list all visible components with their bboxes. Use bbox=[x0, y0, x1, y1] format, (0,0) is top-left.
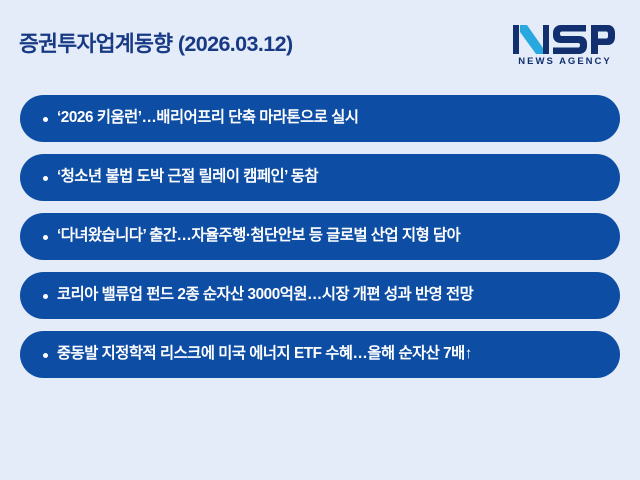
bullet-icon bbox=[43, 176, 48, 181]
headline-text: 코리아 밸류업 펀드 2종 순자산 3000억원…시장 개편 성과 반영 전망 bbox=[57, 286, 473, 305]
headline-list: ‘2026 키움런’…배리어프리 단축 마라톤으로 실시 ‘청소년 불법 도박 … bbox=[20, 95, 620, 378]
bullet-icon bbox=[43, 353, 48, 358]
headline-text: ‘2026 키움런’…배리어프리 단축 마라톤으로 실시 bbox=[57, 109, 358, 128]
nsp-logo-tagline: NEWS AGENCY bbox=[516, 57, 611, 67]
headline-text: 중동발 지정학적 리스크에 미국 에너지 ETF 수혜…올해 순자산 7배↑ bbox=[57, 345, 472, 364]
card-header: 증권투자업계동향 (2026.03.12) NEWS AGENCY bbox=[0, 0, 640, 88]
headline-item-1[interactable]: ‘2026 키움런’…배리어프리 단축 마라톤으로 실시 bbox=[20, 95, 620, 142]
headline-item-4[interactable]: 코리아 밸류업 펀드 2종 순자산 3000억원…시장 개편 성과 반영 전망 bbox=[20, 272, 620, 319]
bullet-icon bbox=[43, 235, 48, 240]
page-title: 증권투자업계동향 (2026.03.12) bbox=[19, 31, 293, 57]
nsp-logo-icon bbox=[512, 23, 616, 56]
bullet-icon bbox=[43, 294, 48, 299]
headline-text: ‘다녀왔습니다’ 출간…자율주행·첨단안보 등 글로벌 산업 지형 담아 bbox=[57, 227, 460, 246]
nsp-logo: NEWS AGENCY bbox=[508, 21, 620, 67]
headline-item-5[interactable]: 중동발 지정학적 리스크에 미국 에너지 ETF 수혜…올해 순자산 7배↑ bbox=[20, 331, 620, 378]
headline-item-3[interactable]: ‘다녀왔습니다’ 출간…자율주행·첨단안보 등 글로벌 산업 지형 담아 bbox=[20, 213, 620, 260]
headline-item-2[interactable]: ‘청소년 불법 도박 근절 릴레이 캠페인’ 동참 bbox=[20, 154, 620, 201]
news-headline-card: 증권투자업계동향 (2026.03.12) NEWS AGENCY ‘2026 … bbox=[0, 0, 640, 480]
bullet-icon bbox=[43, 117, 48, 122]
headline-text: ‘청소년 불법 도박 근절 릴레이 캠페인’ 동참 bbox=[57, 168, 318, 187]
